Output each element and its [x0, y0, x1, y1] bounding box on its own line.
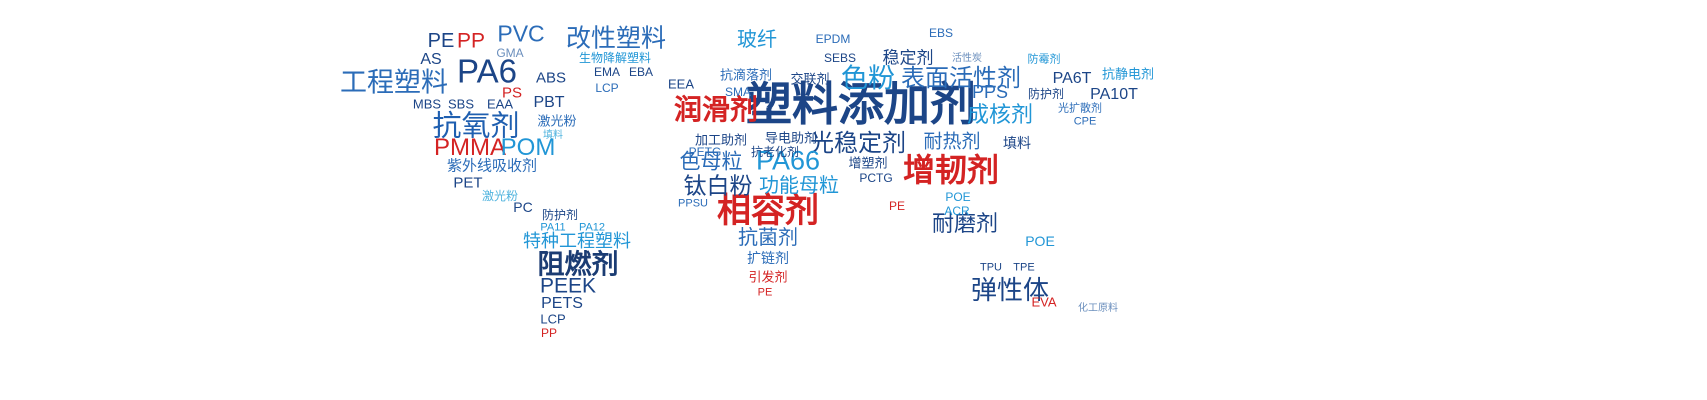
- cloud-word[interactable]: TPE: [1013, 263, 1034, 274]
- cloud-word[interactable]: SBS: [448, 98, 474, 111]
- cloud-word[interactable]: 生物降解塑料: [579, 52, 651, 64]
- cloud-word[interactable]: PPS: [972, 83, 1008, 101]
- cloud-word[interactable]: EBA: [629, 66, 653, 78]
- cloud-word[interactable]: PCTG: [859, 172, 892, 184]
- cloud-word[interactable]: 激光粉: [537, 115, 576, 128]
- cloud-word[interactable]: POE: [1025, 234, 1055, 248]
- cloud-word[interactable]: PE: [889, 200, 905, 212]
- cloud-word[interactable]: 防护剂: [542, 209, 578, 221]
- cloud-word[interactable]: LCP: [540, 313, 565, 326]
- cloud-word[interactable]: 特种工程塑料: [523, 232, 631, 250]
- cloud-word[interactable]: EVA: [1031, 296, 1056, 309]
- cloud-word[interactable]: PA12: [579, 223, 605, 234]
- cloud-word[interactable]: ABS: [536, 71, 566, 86]
- cloud-word[interactable]: PC: [513, 200, 532, 214]
- cloud-word[interactable]: PA11: [540, 223, 565, 234]
- cloud-word[interactable]: 抗老化剂: [751, 146, 799, 158]
- cloud-word[interactable]: PA10T: [1090, 87, 1138, 103]
- cloud-word[interactable]: 耐热剂: [923, 133, 980, 152]
- cloud-word[interactable]: 改性塑料: [566, 27, 666, 52]
- cloud-word[interactable]: EEA: [668, 78, 694, 91]
- cloud-word[interactable]: 功能母粒: [759, 176, 839, 196]
- cloud-word[interactable]: 防护剂: [1028, 88, 1064, 100]
- cloud-word[interactable]: PETG: [689, 146, 722, 158]
- cloud-word[interactable]: 导电助剂: [765, 132, 817, 145]
- cloud-word[interactable]: 玻纤: [737, 30, 777, 50]
- cloud-word[interactable]: EBS: [929, 27, 953, 39]
- cloud-word[interactable]: 润滑剂: [674, 96, 758, 124]
- cloud-word[interactable]: 光稳定剂: [810, 132, 906, 156]
- cloud-word[interactable]: PEEK: [540, 276, 596, 297]
- cloud-word[interactable]: 引发剂: [748, 271, 787, 284]
- cloud-word[interactable]: PVC: [497, 23, 544, 46]
- cloud-word[interactable]: PET: [453, 176, 482, 191]
- cloud-word[interactable]: SEBS: [824, 52, 856, 64]
- word-cloud-canvas: 塑料添加剂相容剂增韧剂润滑剂阻燃剂工程塑料PA6抗氧剂改性塑料色粉表面活性剂光稳…: [0, 0, 1707, 400]
- cloud-word[interactable]: 色粉: [841, 66, 895, 93]
- cloud-word[interactable]: 活性炭: [952, 54, 982, 64]
- cloud-word[interactable]: PP: [457, 31, 485, 52]
- cloud-word[interactable]: 成核剂: [967, 104, 1033, 126]
- cloud-word[interactable]: 稳定剂: [883, 50, 934, 67]
- cloud-word[interactable]: POE: [945, 191, 970, 203]
- cloud-word[interactable]: PA6T: [1053, 71, 1092, 87]
- cloud-word[interactable]: 紫外线吸收剂: [447, 159, 537, 174]
- cloud-word[interactable]: 光扩散剂: [1058, 104, 1102, 115]
- cloud-word[interactable]: 填料: [543, 131, 563, 141]
- cloud-word[interactable]: 工程塑料: [340, 70, 448, 97]
- cloud-word[interactable]: CPE: [1074, 117, 1097, 128]
- cloud-word[interactable]: LCP: [595, 82, 618, 94]
- cloud-word[interactable]: EMA: [594, 66, 620, 78]
- cloud-word[interactable]: PBT: [533, 95, 564, 111]
- cloud-word[interactable]: EAA: [487, 98, 513, 111]
- cloud-word[interactable]: 防霉剂: [1028, 55, 1061, 66]
- cloud-word[interactable]: PE: [428, 31, 455, 51]
- cloud-word[interactable]: 抗静电剂: [1102, 68, 1154, 81]
- cloud-word[interactable]: 填料: [1003, 136, 1031, 150]
- cloud-word[interactable]: PE: [758, 288, 773, 299]
- cloud-word[interactable]: 扩链剂: [747, 251, 789, 265]
- cloud-word[interactable]: PMMA: [434, 136, 506, 160]
- cloud-word[interactable]: 交联剂: [790, 73, 829, 86]
- cloud-word[interactable]: 抗滴落剂: [720, 69, 772, 82]
- cloud-word[interactable]: 相容剂: [717, 194, 819, 228]
- cloud-word[interactable]: MBS: [413, 98, 441, 111]
- cloud-word[interactable]: 化工原料: [1078, 304, 1118, 314]
- cloud-word[interactable]: 抗菌剂: [738, 228, 798, 248]
- cloud-word[interactable]: PPSU: [678, 199, 708, 210]
- cloud-word[interactable]: SMA: [725, 86, 751, 98]
- cloud-word[interactable]: GMA: [496, 47, 523, 59]
- cloud-word[interactable]: 增韧剂: [903, 154, 999, 186]
- cloud-word[interactable]: ACR: [944, 205, 969, 217]
- cloud-word[interactable]: EPDM: [816, 33, 851, 45]
- cloud-word[interactable]: 钛白粉: [684, 175, 753, 198]
- cloud-word[interactable]: AS: [420, 52, 441, 68]
- cloud-word[interactable]: PP: [541, 327, 557, 339]
- cloud-word[interactable]: 增塑剂: [848, 157, 887, 170]
- cloud-word[interactable]: TPU: [980, 263, 1002, 274]
- cloud-word[interactable]: PETS: [541, 296, 583, 312]
